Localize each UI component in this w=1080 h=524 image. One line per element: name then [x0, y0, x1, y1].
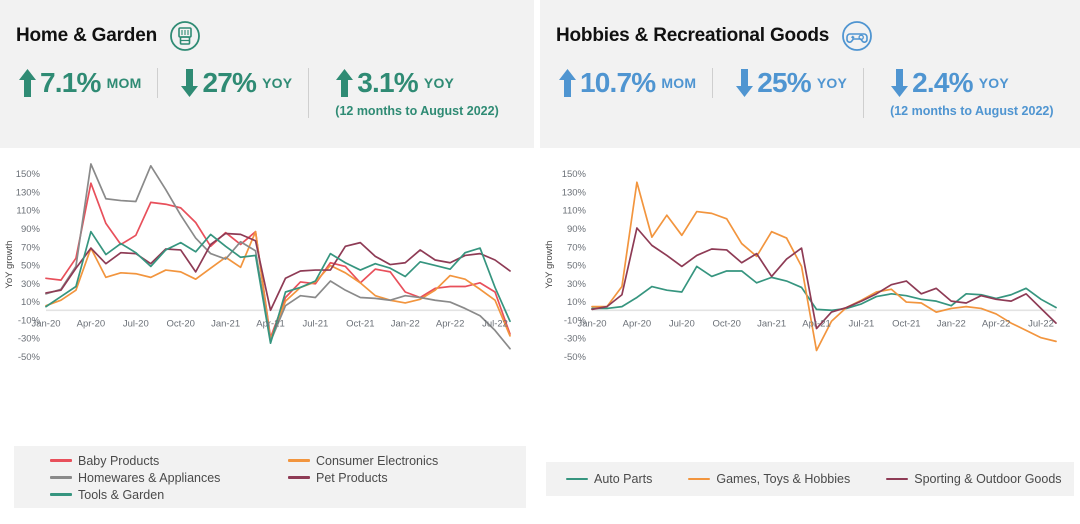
stats-row-home-garden: 7.1% MOM 27% YOY 3.1% [0, 68, 534, 118]
y-axis-title: YoY growth [544, 241, 555, 289]
stat-value: 27% [202, 69, 256, 97]
x-axis-tick-label: Jul-21 [848, 318, 874, 329]
legend-item[interactable]: Tools & Garden [50, 486, 288, 503]
x-axis-tick-label: Oct-21 [892, 318, 921, 329]
y-axis-title: YoY growth [4, 241, 15, 289]
y-axis-tick-label: 50% [567, 261, 587, 272]
legend-item-label: Pet Products [316, 471, 388, 485]
legend-home-garden: Baby ProductsConsumer ElectronicsHomewar… [14, 446, 526, 508]
legend-item[interactable]: Consumer Electronics [288, 452, 526, 469]
y-axis-tick-label: 110% [562, 206, 586, 217]
legend-color-swatch [566, 478, 588, 481]
header-band-home-garden: Home & Garden 7.1% [0, 0, 534, 148]
x-axis-tick-label: Jul-21 [302, 318, 328, 329]
legend-item-label: Tools & Garden [78, 488, 164, 502]
legend-item[interactable]: Baby Products [50, 452, 288, 469]
x-axis-tick-label: Jul-20 [123, 318, 149, 329]
y-axis-tick-label: 130% [562, 187, 587, 198]
stat-value: 25% [757, 69, 811, 97]
x-axis-tick-label: Apr-20 [77, 318, 106, 329]
y-axis-tick-label: 30% [567, 279, 587, 290]
legend-item-label: Baby Products [78, 454, 159, 468]
series-line [592, 228, 1056, 329]
category-header-home-garden: Home & Garden [0, 0, 534, 52]
y-axis-tick-label: 70% [567, 242, 587, 253]
legend-color-swatch [50, 459, 72, 462]
stats-row-hobbies: 10.7% MOM 25% YOY 2.4% [540, 68, 1080, 118]
stat-value: 2.4% [912, 69, 973, 97]
x-axis-tick-label: Jul-22 [1028, 318, 1054, 329]
y-axis-tick-label: 110% [16, 206, 40, 217]
legend-color-swatch [288, 476, 310, 479]
y-axis-tick-label: 10% [567, 297, 587, 308]
stat-yoy-12mo: 3.1% YOY (12 months to August 2022) [308, 68, 514, 118]
x-axis-tick-label: Jan-22 [937, 318, 966, 329]
stat-note: (12 months to August 2022) [890, 104, 1053, 118]
y-axis-tick-label: 150% [16, 169, 41, 180]
stat-unit: YOY [421, 75, 454, 91]
header-band-hobbies: Hobbies & Recreational Goods 10.7% [540, 0, 1080, 148]
page-title: Hobbies & Recreational Goods [556, 25, 829, 47]
legend-item-label: Sporting & Outdoor Goods [914, 472, 1061, 486]
line-chart-svg: 150%130%110%90%70%50%30%10%-10%-30%-50%Y… [0, 148, 534, 448]
stat-unit: YOY [814, 75, 847, 91]
legend-color-swatch [688, 478, 710, 481]
y-axis-tick-label: -50% [18, 352, 41, 363]
y-axis-tick-label: 50% [21, 261, 41, 272]
gamepad-icon [841, 20, 873, 52]
stat-unit: MOM [104, 75, 142, 91]
stat-yoy: 25% YOY [712, 68, 863, 98]
y-axis-tick-label: -50% [564, 352, 587, 363]
x-axis-tick-label: Jan-21 [757, 318, 786, 329]
legend-item-label: Homewares & Appliances [78, 471, 220, 485]
legend-item[interactable]: Pet Products [288, 469, 526, 486]
stat-yoy-12mo: 2.4% YOY (12 months to August 2022) [863, 68, 1069, 118]
x-axis-tick-label: Apr-20 [623, 318, 652, 329]
stat-yoy: 27% YOY [157, 68, 308, 98]
legend-hobbies: Auto PartsGames, Toys & HobbiesSporting … [546, 462, 1074, 496]
arrow-up-icon [558, 68, 577, 98]
legend-item[interactable]: Games, Toys & Hobbies [688, 472, 850, 486]
legend-item[interactable]: Homewares & Appliances [50, 469, 288, 486]
stat-note: (12 months to August 2022) [335, 104, 498, 118]
series-line [592, 266, 1056, 310]
page-title: Home & Garden [16, 25, 157, 47]
x-axis-tick-label: Oct-20 [166, 318, 195, 329]
arrow-down-icon [180, 68, 199, 98]
x-axis-tick-label: Jan-20 [31, 318, 60, 329]
legend-color-swatch [50, 493, 72, 496]
stat-mom: 7.1% MOM [14, 68, 157, 98]
x-axis-tick-label: Apr-22 [436, 318, 465, 329]
legend-item-label: Games, Toys & Hobbies [716, 472, 850, 486]
stat-unit: YOY [976, 75, 1009, 91]
legend-item[interactable]: Auto Parts [566, 472, 652, 486]
legend-item[interactable]: Sporting & Outdoor Goods [886, 472, 1061, 486]
x-axis-tick-label: Oct-20 [712, 318, 741, 329]
stat-unit: MOM [658, 75, 696, 91]
arrow-down-icon [735, 68, 754, 98]
x-axis-tick-label: Jan-20 [577, 318, 606, 329]
x-axis-tick-label: Jan-22 [391, 318, 420, 329]
stat-value: 7.1% [40, 69, 101, 97]
x-axis-tick-label: Oct-21 [346, 318, 375, 329]
legend-color-swatch [288, 459, 310, 462]
x-axis-tick-label: Apr-21 [256, 318, 285, 329]
line-chart-svg: 150%130%110%90%70%50%30%10%-10%-30%-50%Y… [540, 148, 1080, 448]
x-axis-tick-label: Jan-21 [211, 318, 240, 329]
legend-item-label: Consumer Electronics [316, 454, 438, 468]
legend-item-label: Auto Parts [594, 472, 652, 486]
series-line [46, 233, 510, 310]
stat-mom: 10.7% MOM [554, 68, 712, 98]
y-axis-tick-label: 150% [562, 169, 587, 180]
y-axis-tick-label: 10% [21, 297, 41, 308]
y-axis-tick-label: 90% [567, 224, 587, 235]
stat-unit: YOY [259, 75, 292, 91]
legend-color-swatch [50, 476, 72, 479]
legend-color-swatch [886, 478, 908, 481]
blender-appliance-icon [169, 20, 201, 52]
y-axis-tick-label: -30% [18, 334, 41, 345]
arrow-down-icon [890, 68, 909, 98]
x-axis-tick-label: Jul-22 [482, 318, 508, 329]
stat-value: 3.1% [357, 69, 418, 97]
y-axis-tick-label: 130% [16, 187, 41, 198]
x-axis-tick-label: Apr-21 [802, 318, 831, 329]
arrow-up-icon [18, 68, 37, 98]
x-axis-tick-label: Jul-20 [669, 318, 695, 329]
stat-value: 10.7% [580, 69, 655, 97]
y-axis-tick-label: 70% [21, 242, 41, 253]
dashboard-page: Home & Garden 7.1% [0, 0, 1080, 524]
x-axis-tick-label: Apr-22 [982, 318, 1011, 329]
y-axis-tick-label: -30% [564, 334, 587, 345]
y-axis-tick-label: 30% [21, 279, 41, 290]
category-header-hobbies: Hobbies & Recreational Goods [540, 0, 1080, 52]
arrow-up-icon [335, 68, 354, 98]
y-axis-tick-label: 90% [21, 224, 41, 235]
